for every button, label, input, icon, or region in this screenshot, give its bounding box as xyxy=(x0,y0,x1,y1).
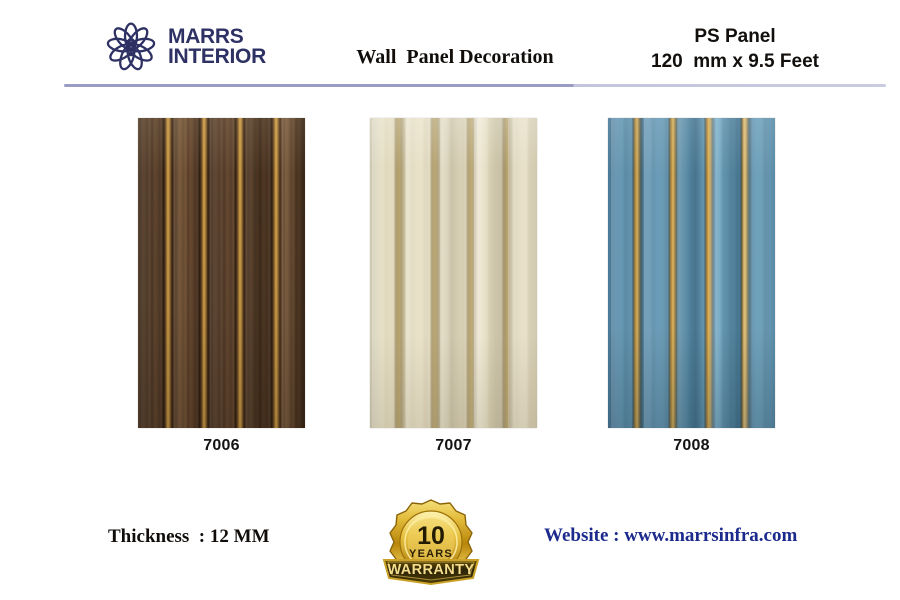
panel-spec: PS Panel 120 mm x 9.5 Feet xyxy=(610,24,860,75)
spec-product-type: PS Panel xyxy=(610,24,860,49)
spec-dimensions: 120 mm x 9.5 Feet xyxy=(610,49,860,74)
brand-logo: MARRS INTERIOR xyxy=(103,22,266,72)
swatch-image-7008[interactable] xyxy=(608,118,775,428)
page-footer: Thickness : 12 MM xyxy=(0,490,900,600)
lotus-flower-logo-icon xyxy=(103,22,159,72)
brand-name-line2: INTERIOR xyxy=(168,47,266,67)
warranty-badge: 10 YEARS WARRANTY xyxy=(378,494,484,590)
product-card-7008[interactable]: 7008 xyxy=(608,118,775,455)
page-header: MARRS INTERIOR Wall Panel Decoration PS … xyxy=(0,0,900,80)
warranty-label: WARRANTY xyxy=(388,562,475,578)
brand-wordmark: MARRS INTERIOR xyxy=(168,27,266,68)
swatch-shading-layer xyxy=(138,118,305,428)
product-card-7007[interactable]: 7007 xyxy=(370,118,537,455)
warranty-years-unit: YEARS xyxy=(409,548,453,560)
brand-name-line1: MARRS xyxy=(168,27,266,47)
product-code-label: 7007 xyxy=(370,437,537,455)
header-divider xyxy=(64,84,886,87)
swatch-image-7007[interactable] xyxy=(370,118,537,428)
swatch-shading-layer xyxy=(608,118,775,428)
swatch-shading-layer xyxy=(370,118,537,428)
swatch-image-7006[interactable] xyxy=(138,118,305,428)
warranty-years-number: 10 xyxy=(417,522,445,550)
product-card-7006[interactable]: 7006 xyxy=(138,118,305,455)
product-swatch-row: 7006 7007 7008 xyxy=(0,118,900,458)
product-code-label: 7008 xyxy=(608,437,775,455)
product-code-label: 7006 xyxy=(138,437,305,455)
website-label[interactable]: Website : www.marrsinfra.com xyxy=(544,525,797,547)
thickness-label: Thickness : 12 MM xyxy=(108,526,270,548)
page-title: Wall Panel Decoration xyxy=(330,46,580,69)
